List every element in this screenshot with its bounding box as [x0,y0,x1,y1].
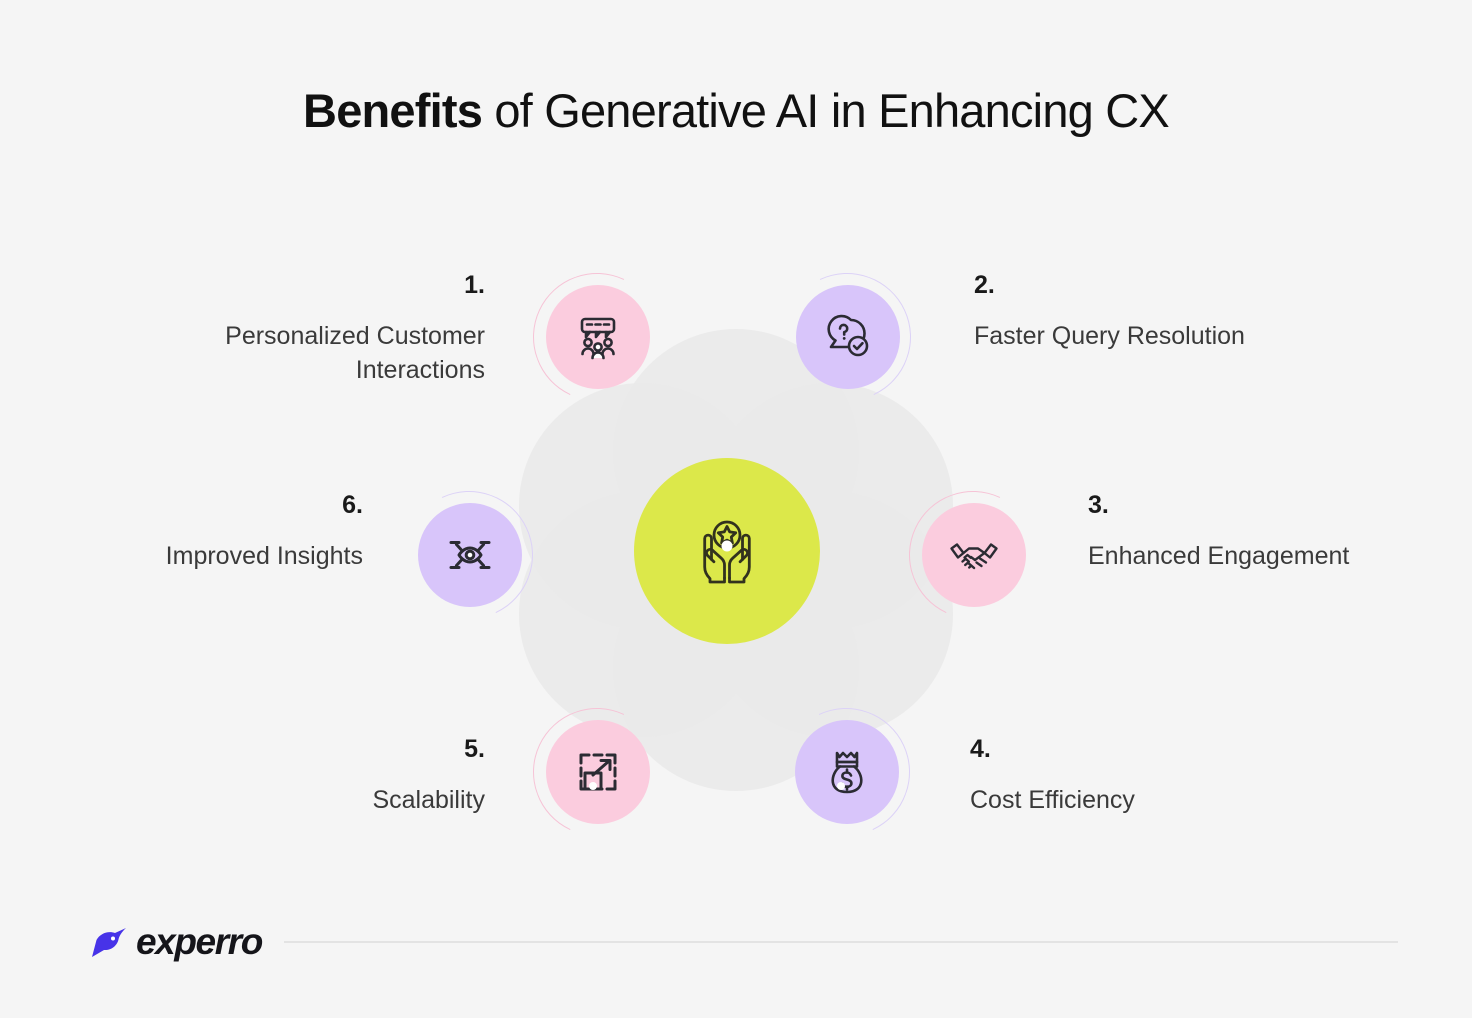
node-1-personalized-customer-interactions[interactable] [546,285,650,389]
node-6-circle[interactable] [418,503,522,607]
brand-name: experro [136,921,262,963]
node-3-enhanced-engagement[interactable] [922,503,1026,607]
label-2-number: 2. [974,268,1374,303]
label-5-text: Scalability [372,786,485,814]
label-5: 5. Scalability [180,732,485,817]
node-2-circle[interactable] [796,285,900,389]
label-6-text: Improved Insights [166,542,363,570]
label-1-text: Personalized Customer Interactions [225,322,485,385]
brand-logo[interactable]: experro [88,920,262,964]
label-2: 2. Faster Query Resolution [974,268,1374,353]
chat-bubble-people-icon [570,309,626,365]
node-1-circle[interactable] [546,285,650,389]
node-4-cost-efficiency[interactable] [795,720,899,824]
label-1-number: 1. [120,268,485,303]
label-2-text: Faster Query Resolution [974,322,1245,350]
node-2-faster-query-resolution[interactable] [796,285,900,389]
label-3-number: 3. [1088,488,1388,523]
eye-network-icon [442,527,498,583]
label-1: 1. Personalized Customer Interactions [120,268,485,388]
benefits-diagram: 1. Personalized Customer Interactions 2.… [0,0,1472,1018]
footer-divider [284,941,1398,943]
label-6: 6. Improved Insights [120,488,363,573]
label-3-text: Enhanced Engagement [1088,542,1349,570]
label-4-text: Cost Efficiency [970,786,1135,814]
money-bag-dollar-icon [819,744,875,800]
hands-holding-star-icon [681,505,773,597]
node-4-circle[interactable] [795,720,899,824]
expand-arrow-square-icon [571,745,625,799]
label-4-number: 4. [970,732,1300,767]
handshake-icon [945,526,1003,584]
bird-logo-icon [88,920,134,964]
footer: experro [88,912,1398,972]
node-5-scalability[interactable] [546,720,650,824]
node-6-improved-insights[interactable] [418,503,522,607]
question-bubble-check-icon [820,309,876,365]
label-4: 4. Cost Efficiency [970,732,1300,817]
label-5-number: 5. [180,732,485,767]
node-5-circle[interactable] [546,720,650,824]
node-3-circle[interactable] [922,503,1026,607]
center-node[interactable] [634,458,820,644]
label-6-number: 6. [120,488,363,523]
label-3: 3. Enhanced Engagement [1088,488,1388,573]
